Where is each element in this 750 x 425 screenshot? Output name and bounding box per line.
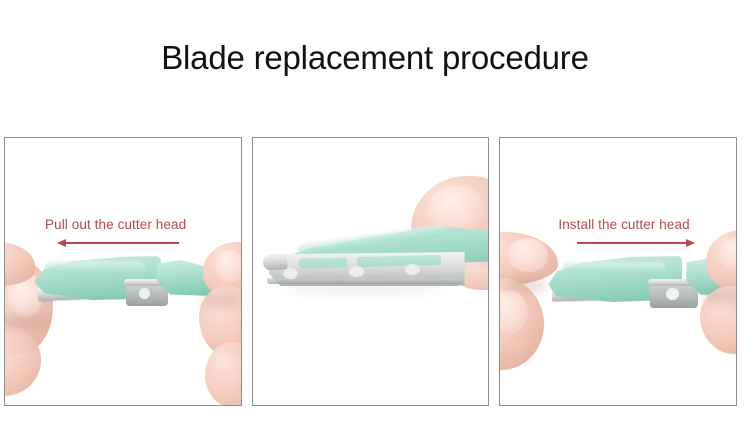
caption-pull-out: Pull out the cutter head [45, 217, 186, 233]
caption-install: Install the cutter head [558, 217, 689, 233]
blade-hole-right [405, 264, 420, 275]
blade-slot-left [299, 257, 347, 268]
photo-detached-cutter-head [253, 138, 489, 405]
right-hand-shadow [201, 294, 241, 308]
photo-pull-out-cutter-head [5, 138, 241, 405]
right-hand-lower-fingers [205, 342, 242, 406]
cutter-head-shadow [283, 284, 443, 294]
right-arrow-icon [577, 237, 695, 248]
cutter-head-cap-highlight [45, 261, 145, 275]
panel-pull-out: Pull out the cutter head [4, 137, 242, 406]
page-title: Blade replacement procedure [0, 38, 750, 78]
right-hand-shadow [702, 290, 737, 304]
panel-cutter-head [252, 137, 490, 406]
right-thumb-nail [215, 250, 242, 282]
left-arrow-icon [57, 237, 179, 248]
left-hand-shadow [504, 278, 548, 292]
left-index-nail [508, 238, 548, 272]
panel-install: Install the cutter head [499, 137, 737, 406]
blade-hole-center [349, 266, 364, 277]
blade-hole-left [283, 268, 298, 279]
photo-install-cutter-head [500, 138, 736, 405]
panel-row: Pull out the cutter head [4, 137, 737, 406]
cutter-head-cap-highlight [562, 262, 666, 275]
blade-nose-hook [262, 253, 287, 271]
blade-clip-hole [139, 288, 150, 299]
